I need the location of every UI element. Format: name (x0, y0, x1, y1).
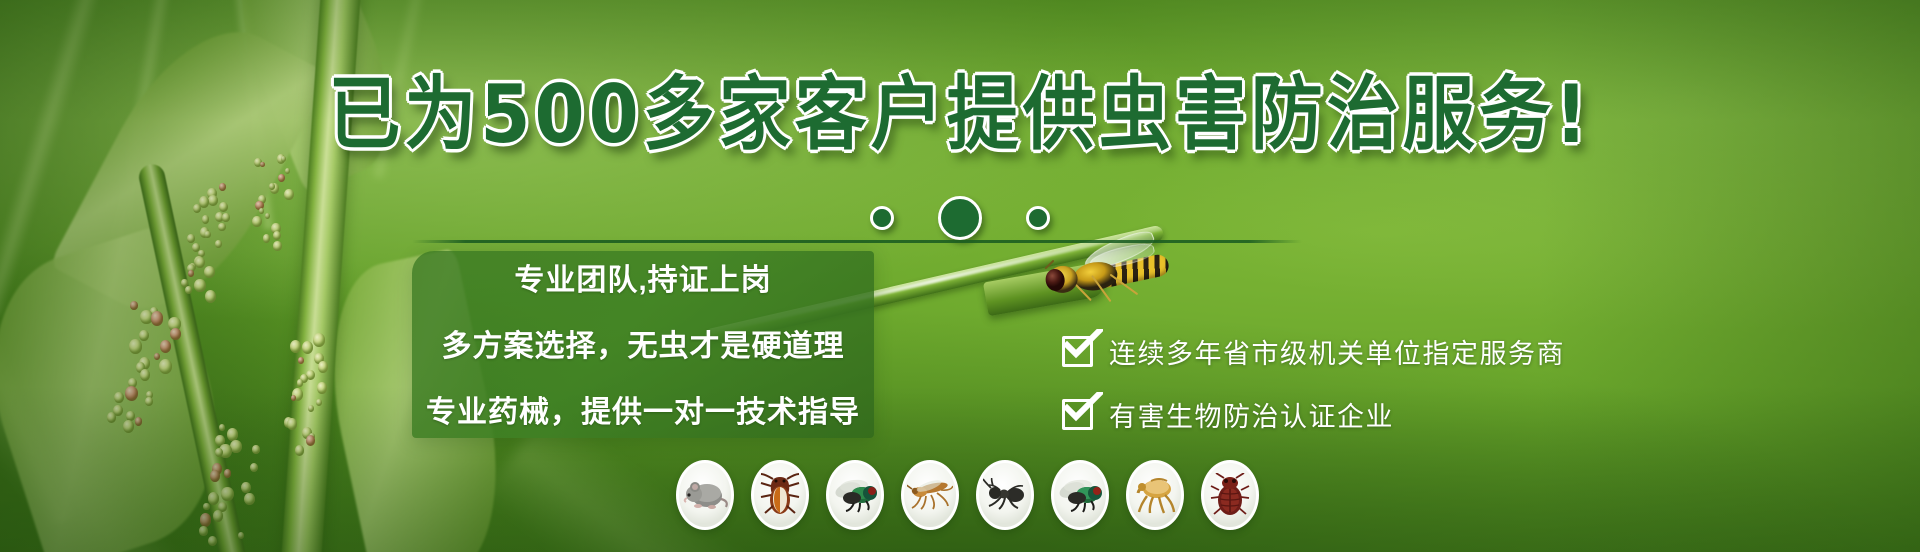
pest-icon-strip (676, 460, 1259, 530)
mouse-icon[interactable] (676, 460, 734, 530)
divider-rule (412, 240, 1302, 243)
dot-small-right (1026, 206, 1050, 230)
banner-headline: 已为500多家客户提供虫害防治服务! (0, 74, 1920, 155)
checklist-item-2: 有害生物防治认证企业 (1062, 395, 1565, 434)
feature-line-3: 专业药械，提供一对一技术指导 (426, 387, 860, 431)
flea-icon[interactable] (1126, 460, 1184, 530)
checklist-label-1: 连续多年省市级机关单位指定服务商 (1109, 332, 1565, 371)
pest-control-banner: 已为500多家客户提供虫害防治服务! 专业团队,持证上岗 多方案选择，无虫才是硬… (0, 0, 1920, 552)
feature-line-2: 多方案选择，无虫才是硬道理 (442, 321, 845, 365)
fly-green-icon[interactable] (826, 460, 884, 530)
dot-small-left (870, 206, 894, 230)
checkbox-checked-icon (1062, 336, 1093, 367)
dot-large-center (938, 196, 982, 240)
cockroach-icon[interactable] (751, 460, 809, 530)
decorative-dots (0, 196, 1920, 240)
feature-line-1: 专业团队,持证上岗 (514, 255, 771, 299)
checklist-label-2: 有害生物防治认证企业 (1109, 395, 1394, 434)
ant-icon[interactable] (976, 460, 1034, 530)
feature-panel: 专业团队,持证上岗 多方案选择，无虫才是硬道理 专业药械，提供一对一技术指导 (412, 251, 874, 438)
certification-checklist: 连续多年省市级机关单位指定服务商 有害生物防治认证企业 (1062, 332, 1565, 434)
checklist-item-1: 连续多年省市级机关单位指定服务商 (1062, 332, 1565, 371)
checkbox-checked-icon (1062, 399, 1093, 430)
mosquito-icon[interactable] (901, 460, 959, 530)
bedbug-icon[interactable] (1201, 460, 1259, 530)
blowfly-icon[interactable] (1051, 460, 1109, 530)
